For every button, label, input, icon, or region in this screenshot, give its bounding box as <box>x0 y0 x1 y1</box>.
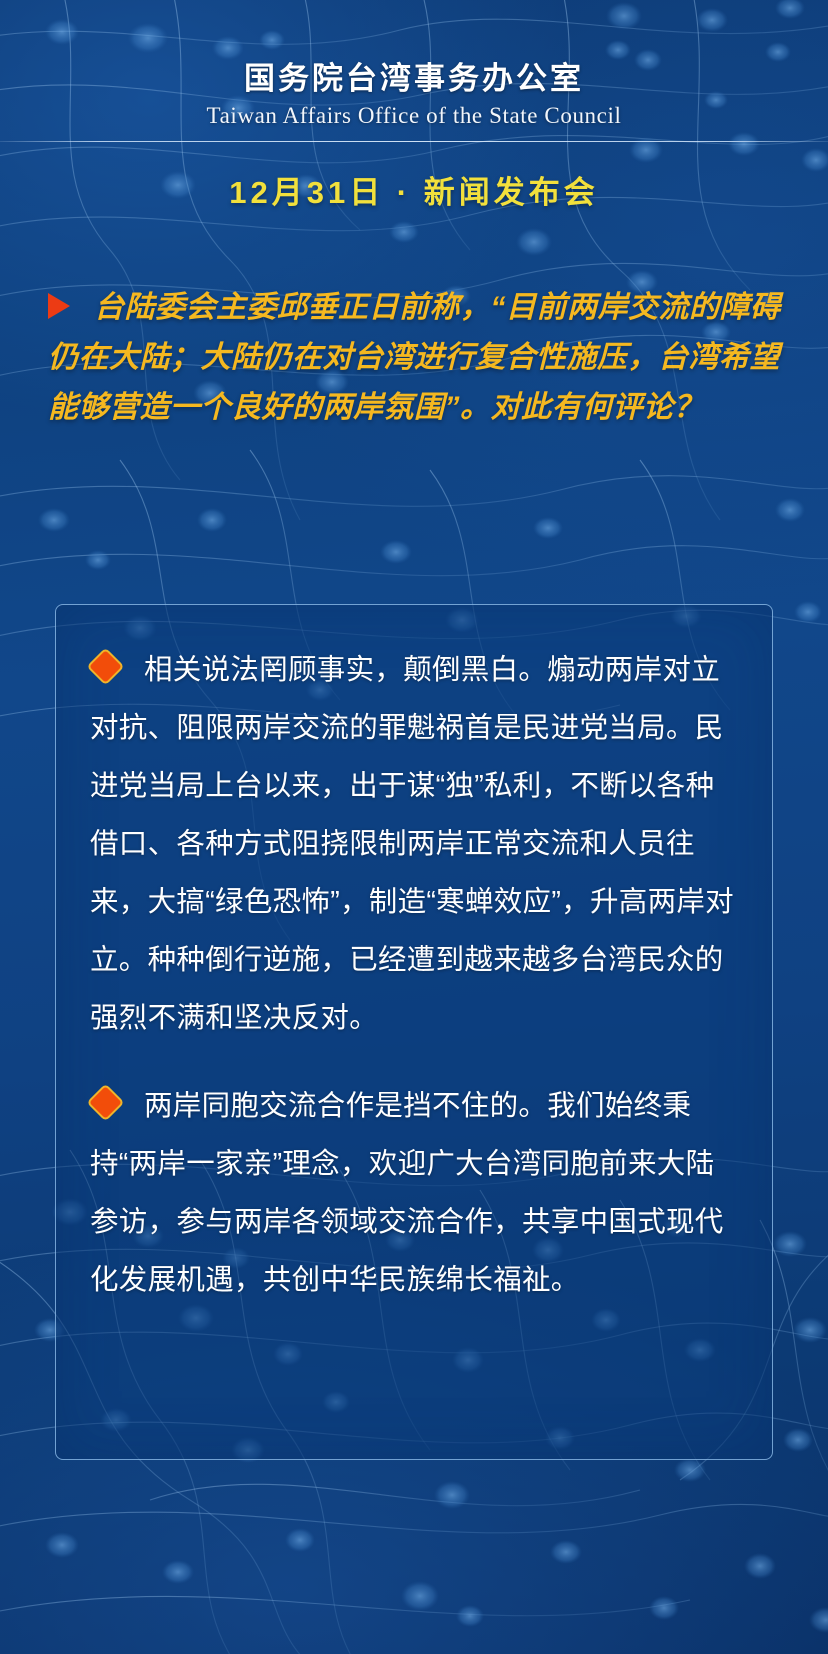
red-triangle-icon <box>48 293 70 319</box>
question-block: 台陆委会主委邱垂正日前称，“目前两岸交流的障碍仍在大陆；大陆仍在对台湾进行复合性… <box>48 283 788 433</box>
answer-paragraph-text: 两岸同胞交流合作是挡不住的。我们始终秉持“两岸一家亲”理念，欢迎广大台湾同胞前来… <box>90 1090 724 1296</box>
answer-paragraph: 相关说法罔顾事实，颠倒黑白。煽动两岸对立对抗、阻限两岸交流的罪魁祸首是民进党当局… <box>90 641 738 1047</box>
answer-paragraph-text: 相关说法罔顾事实，颠倒黑白。煽动两岸对立对抗、阻限两岸交流的罪魁祸首是民进党当局… <box>90 654 734 1034</box>
answer-paragraph: 两岸同胞交流合作是挡不住的。我们始终秉持“两岸一家亲”理念，欢迎广大台湾同胞前来… <box>90 1077 738 1309</box>
question-text: 台陆委会主委邱垂正日前称，“目前两岸交流的障碍仍在大陆；大陆仍在对台湾进行复合性… <box>48 291 781 424</box>
office-title-chinese: 国务院台湾事务办公室 <box>0 60 828 97</box>
office-title-english: Taiwan Affairs Office of the State Counc… <box>0 103 828 129</box>
orange-diamond-icon <box>86 647 124 685</box>
poster-header: 国务院台湾事务办公室 Taiwan Affairs Office of the … <box>0 0 828 212</box>
press-conference-poster: 国务院台湾事务办公室 Taiwan Affairs Office of the … <box>0 0 828 1654</box>
orange-diamond-icon <box>86 1083 124 1121</box>
press-conference-date-subtitle: 12月31日 · 新闻发布会 <box>0 167 828 212</box>
header-divider <box>0 141 828 142</box>
answer-card: 相关说法罔顾事实，颠倒黑白。煽动两岸对立对抗、阻限两岸交流的罪魁祸首是民进党当局… <box>55 604 773 1460</box>
